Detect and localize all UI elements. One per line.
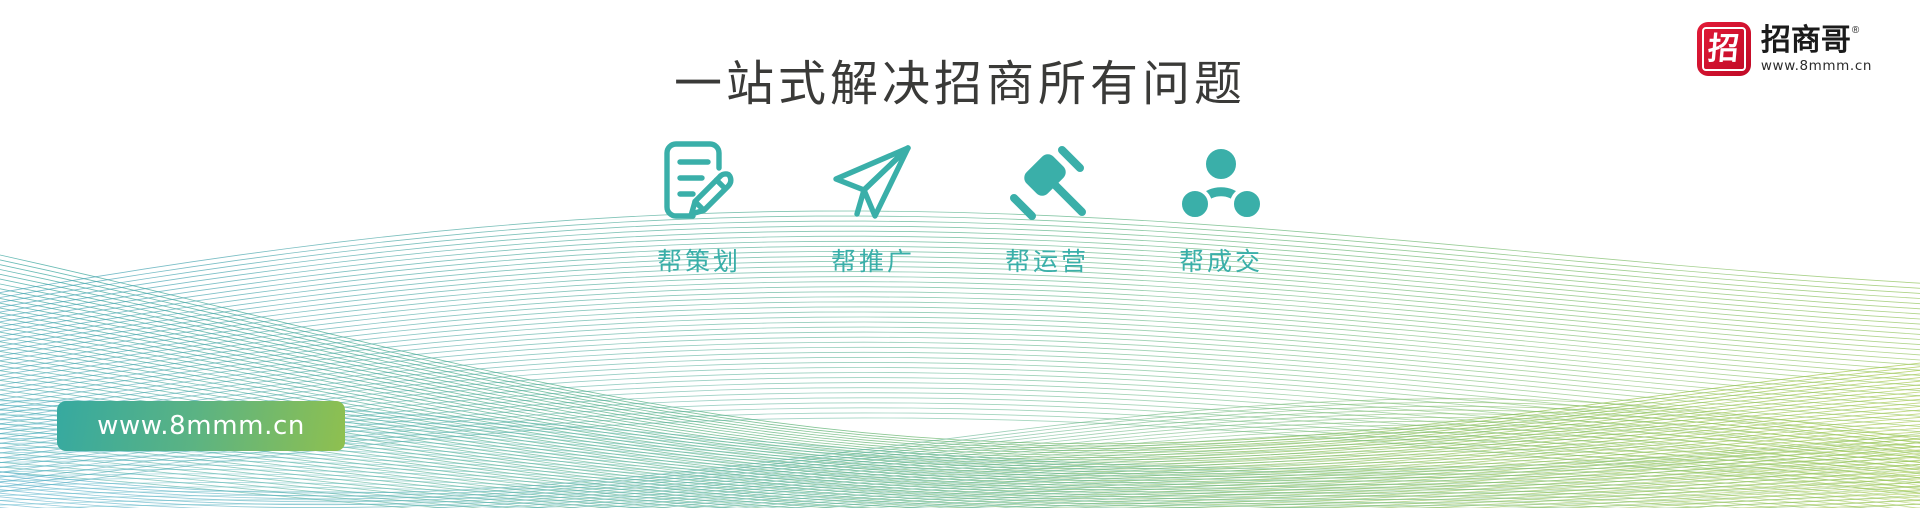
feature-list: 帮策划 帮推广 [0, 134, 1920, 278]
logo-mark-char: 招 [1707, 34, 1741, 65]
feature-label: 帮运营 [1005, 242, 1089, 278]
logo-mark-icon: 招 [1697, 22, 1751, 76]
page-title: 一站式解决招商所有问题 [0, 56, 1920, 113]
feature-item-deal[interactable]: 帮成交 [1164, 134, 1278, 278]
brand-logo[interactable]: 招 招商哥 ® www.8mmm.cn [1697, 22, 1872, 76]
logo-website-url: www.8mmm.cn [1761, 60, 1872, 74]
paper-plane-icon [830, 134, 916, 226]
website-url-badge[interactable]: www.8mmm.cn [57, 401, 345, 451]
registered-trademark-icon: ® [1852, 26, 1859, 36]
website-url-text: www.8mmm.cn [97, 411, 305, 441]
gavel-icon [1004, 134, 1090, 226]
network-nodes-icon [1178, 134, 1264, 226]
feature-label: 帮成交 [1179, 242, 1263, 278]
logo-name-row: 招商哥 ® [1761, 25, 1872, 57]
feature-label: 帮推广 [831, 242, 915, 278]
feature-item-promotion[interactable]: 帮推广 [816, 134, 930, 278]
feature-label: 帮策划 [657, 242, 741, 278]
document-pencil-icon [656, 134, 742, 226]
logo-brand-name: 招商哥 [1761, 25, 1851, 57]
logo-text-block: 招商哥 ® www.8mmm.cn [1761, 25, 1872, 74]
feature-item-planning[interactable]: 帮策划 [642, 134, 756, 278]
promo-banner: 招 招商哥 ® www.8mmm.cn 一站式解决招商所有问题 [0, 0, 1920, 508]
feature-item-operations[interactable]: 帮运营 [990, 134, 1104, 278]
